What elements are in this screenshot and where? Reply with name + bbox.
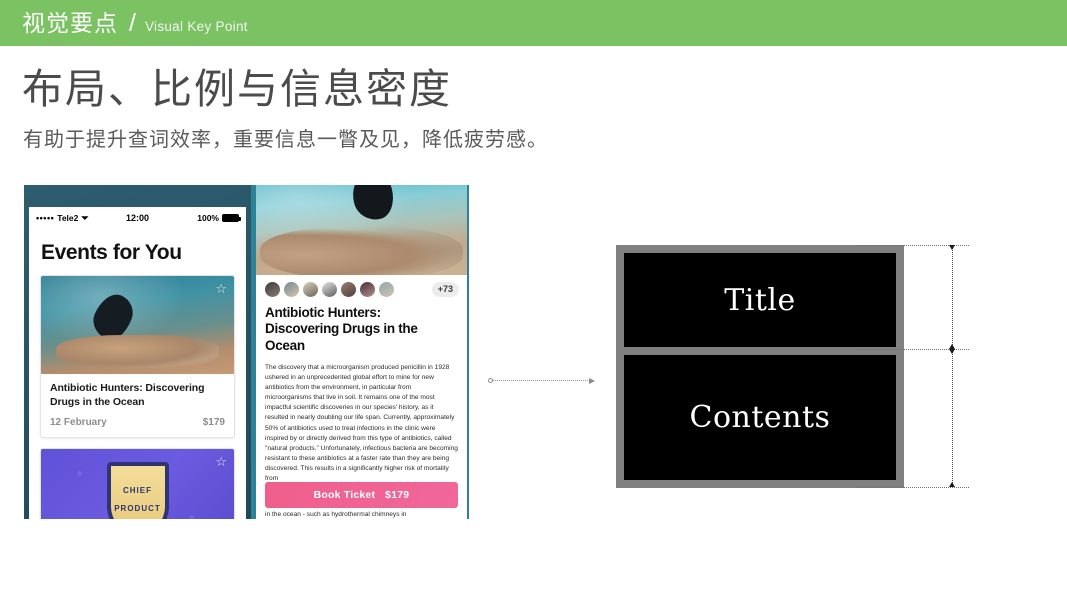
connector-start-marker	[488, 378, 493, 383]
header-title-group: 视觉要点 / Visual Key Point	[0, 11, 248, 36]
dimension-extension-line	[856, 487, 969, 488]
badge-line-2: PRODUCT	[114, 504, 161, 513]
status-bar-time: 12:00	[126, 213, 149, 223]
dimension-line-contents	[952, 349, 953, 487]
star-outline-icon[interactable]: ☆	[215, 282, 227, 295]
wifi-icon: ⏷	[81, 213, 88, 224]
diagram-frame: Title Contents	[616, 245, 904, 488]
event-card-body: Antibiotic Hunters: Discovering Drugs in…	[41, 374, 234, 437]
attendee-avatar-row: +73	[256, 275, 467, 300]
dimension-arrow-icon	[949, 482, 955, 487]
phone-article-screen: +73 Antibiotic Hunters: Discovering Drug…	[256, 185, 467, 519]
book-ticket-price: $179	[385, 489, 409, 501]
screen-title: Events for You	[29, 229, 246, 275]
avatar[interactable]	[283, 281, 300, 298]
header-band: 视觉要点 / Visual Key Point	[0, 0, 1067, 46]
event-card-image: ☆	[41, 276, 234, 374]
attendee-overflow-badge[interactable]: +73	[432, 282, 459, 297]
diagram-title-block: Title	[624, 253, 896, 347]
event-card-meta: 12 February $179	[50, 417, 225, 428]
badge-line-1: CHIEF	[123, 486, 152, 495]
event-card[interactable]: ☆ Antibiotic Hunters: Discovering Drugs …	[40, 275, 235, 438]
header-separator: /	[129, 11, 136, 36]
dimension-line-title	[952, 245, 953, 349]
diagram-title-label: Title	[724, 283, 796, 318]
status-bar-left: ••••• Tele2 ⏷	[36, 213, 126, 224]
diagram-contents-block: Contents	[624, 355, 896, 480]
signal-dots-icon: •••••	[36, 213, 54, 223]
avatar[interactable]	[321, 281, 338, 298]
event-card-date: 12 February	[50, 417, 107, 428]
status-bar-right: 100%	[149, 213, 239, 223]
layout-proportion-diagram: Title Contents	[616, 245, 969, 488]
left-example-screenshot: ••••• Tele2 ⏷ 12:00 100% Events for You …	[24, 185, 469, 519]
event-card[interactable]: ☆ CHIEF PRODUCT	[40, 448, 235, 519]
avatar[interactable]	[359, 281, 376, 298]
carrier-label: Tele2	[57, 213, 78, 223]
status-bar: ••••• Tele2 ⏷ 12:00 100%	[29, 207, 246, 229]
connector-line	[492, 380, 590, 381]
article-title: Antibiotic Hunters: Discovering Drugs in…	[256, 300, 467, 357]
book-ticket-button[interactable]: Book Ticket $179	[265, 482, 458, 508]
event-card-image: ☆ CHIEF PRODUCT	[41, 449, 234, 519]
avatar[interactable]	[302, 281, 319, 298]
diagram-contents-label: Contents	[690, 400, 831, 435]
avatar[interactable]	[264, 281, 281, 298]
header-title-cn: 视觉要点	[22, 12, 118, 35]
book-ticket-label: Book Ticket	[314, 489, 376, 501]
dimension-arrow-icon	[949, 245, 955, 250]
battery-icon	[222, 214, 239, 222]
avatar[interactable]	[378, 281, 395, 298]
page-subtitle: 有助于提升查词效率，重要信息一瞥及见，降低疲劳感。	[23, 127, 548, 153]
article-hero-image	[256, 185, 467, 275]
page-title: 布局、比例与信息密度	[22, 66, 452, 113]
dimension-arrow-icon	[949, 349, 955, 354]
article-body: The discovery that a microorganism produ…	[256, 357, 467, 483]
article-body-continued: in the ocean - such as hydrothermal chim…	[265, 510, 458, 519]
event-card-title: Antibiotic Hunters: Discovering Drugs in…	[50, 382, 225, 410]
header-title-en: Visual Key Point	[145, 20, 248, 34]
battery-percent-label: 100%	[197, 213, 219, 223]
star-outline-icon[interactable]: ☆	[215, 455, 227, 468]
event-card-price: $179	[203, 417, 225, 428]
connector-arrow-icon	[589, 378, 595, 384]
phone-list-screen: ••••• Tele2 ⏷ 12:00 100% Events for You …	[29, 207, 246, 519]
avatar[interactable]	[340, 281, 357, 298]
chief-product-badge: CHIEF PRODUCT	[107, 462, 169, 519]
